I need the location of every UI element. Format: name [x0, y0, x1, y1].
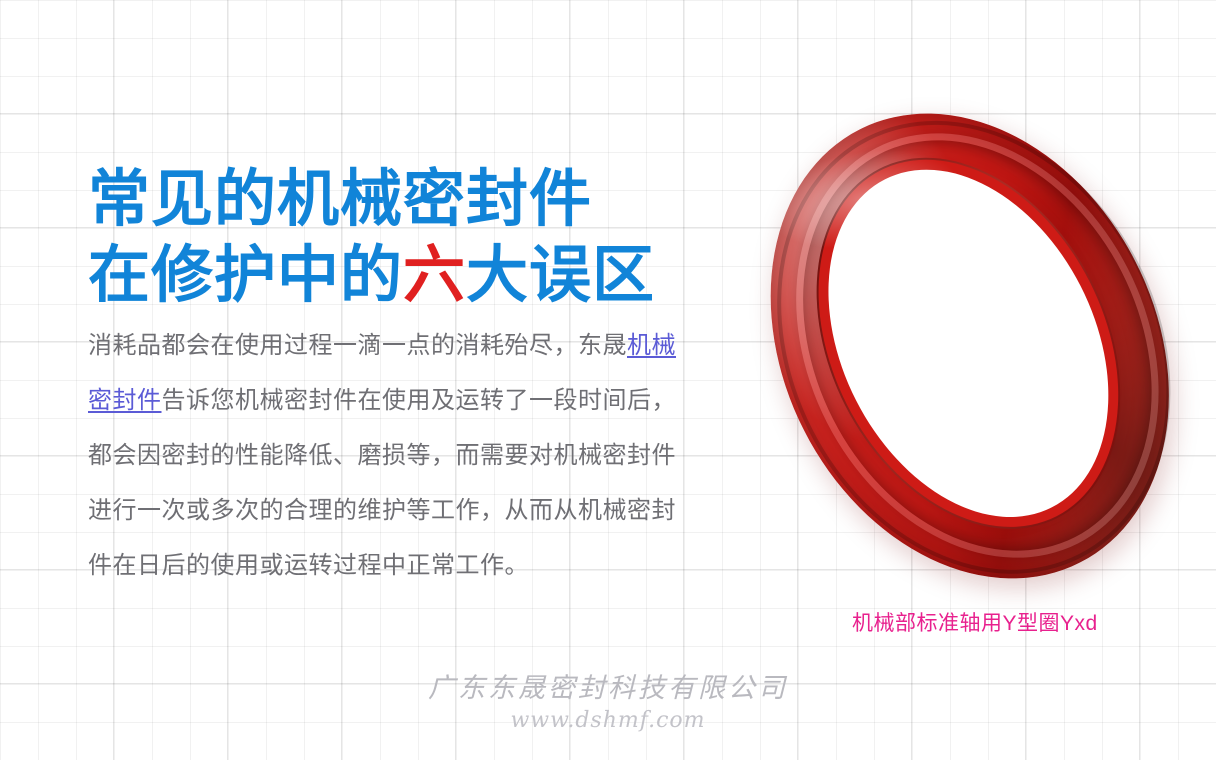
body-line-4: 进行一次或多次的合理的维护等工作，从而从机械密封: [88, 483, 716, 538]
body-line-3: 都会因密封的性能降低、磨损等，而需要对机械密封件: [88, 428, 716, 483]
body-line-5: 件在日后的使用或运转过程中正常工作。: [88, 538, 716, 593]
company-name: 广东东晟密封科技有限公司: [0, 672, 1216, 706]
footer-watermark: 广东东晟密封科技有限公司 www.dshmf.com: [0, 672, 1216, 736]
body-line-2: 密封件告诉您机械密封件在使用及运转了一段时间后，: [88, 373, 716, 428]
page-title: 常见的机械密封件 在修护中的六大误区: [88, 162, 748, 314]
body-paragraph: 消耗品都会在使用过程一滴一点的消耗殆尽，东晟机械 密封件告诉您机械密封件在使用及…: [88, 318, 716, 593]
body-line-2-text: 告诉您机械密封件在使用及运转了一段时间后，: [162, 387, 677, 414]
headline-line-2-suffix: 大误区: [466, 241, 655, 310]
company-website: www.dshmf.com: [0, 706, 1216, 736]
headline-line-2-prefix: 在修护中的: [88, 241, 403, 310]
seal-ring-graphic: [659, 22, 1216, 671]
body-line-1: 消耗品都会在使用过程一滴一点的消耗殆尽，东晟机械: [88, 318, 716, 373]
headline-accent-text: 六: [403, 241, 466, 310]
body-link-mechanical-seal-part1[interactable]: 机械: [627, 332, 676, 359]
body-link-mechanical-seal-part2[interactable]: 密封件: [88, 387, 162, 414]
headline-line-2: 在修护中的六大误区: [88, 238, 748, 314]
body-line-1-text: 消耗品都会在使用过程一滴一点的消耗殆尽，东晟: [88, 332, 627, 359]
product-image-seal-ring: [748, 96, 1196, 596]
headline-line-1: 常见的机械密封件: [88, 162, 748, 238]
product-caption: 机械部标准轴用Y型圈Yxd: [852, 610, 1098, 638]
poster-canvas: 常见的机械密封件 在修护中的六大误区 消耗品都会在使用过程一滴一点的消耗殆尽，东…: [0, 0, 1216, 760]
